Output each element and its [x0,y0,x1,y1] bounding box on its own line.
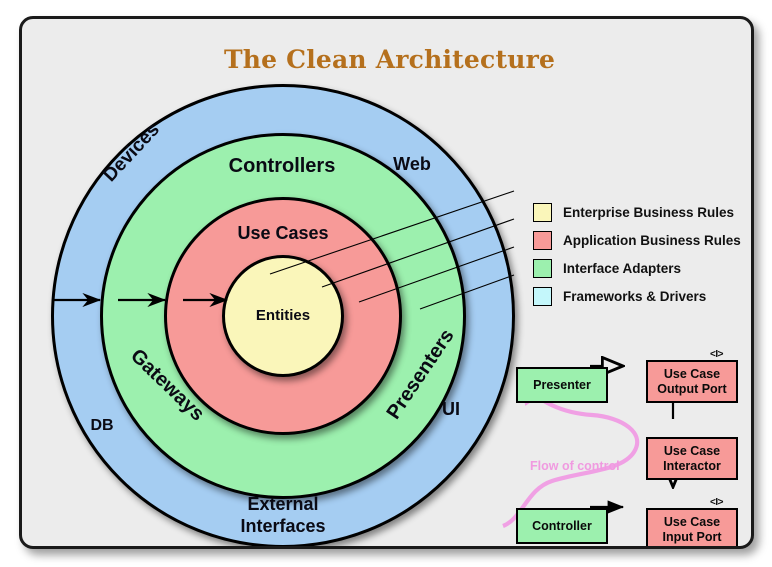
interface-marker-output-port: <I> [710,349,723,360]
legend-item: Interface Adapters [533,255,741,281]
page-title: The Clean Architecture [22,45,754,74]
flow-box-use-case-input-port: Use Case Input Port [646,508,738,549]
legend-swatch-application [533,231,552,250]
legend-label-enterprise: Enterprise Business Rules [563,205,734,220]
ring-label-use-cases: Use Cases [213,223,353,244]
legend-item: Frameworks & Drivers [533,283,741,309]
legend-swatch-frameworks [533,287,552,306]
flow-box-use-case-interactor: Use Case Interactor [646,437,738,480]
legend-item: Application Business Rules [533,227,741,253]
external-line-2: Interfaces [240,516,325,536]
interactor-line-1: Use Case [664,444,720,458]
input-port-line-2: Input Port [662,530,721,544]
interface-marker-input-port: <I> [710,497,723,508]
flow-box-controller: Controller [516,508,608,544]
output-port-line-1: Use Case [664,367,720,381]
ring-label-entities: Entities [227,307,339,324]
legend-swatch-enterprise [533,203,552,222]
ring-label-ui: UI [427,399,475,420]
legend-label-application: Application Business Rules [563,233,741,248]
ring-label-controllers: Controllers [202,155,362,178]
legend-item: Enterprise Business Rules [533,199,741,225]
legend-swatch-interface-adapters [533,259,552,278]
flow-box-use-case-output-port: Use Case Output Port [646,360,738,403]
ring-label-web: Web [377,154,447,175]
flow-box-controller-label: Controller [532,519,592,534]
output-port-line-2: Output Port [657,382,726,396]
ring-label-external-interfaces: External Interfaces [208,494,358,538]
legend-label-frameworks: Frameworks & Drivers [563,289,706,304]
flow-of-control-curve [503,385,637,526]
ring-label-db: DB [74,417,130,435]
flow-box-presenter: Presenter [516,367,608,403]
diagram-panel: The Clean Architecture Controllers Use C… [19,16,754,549]
legend: Enterprise Business Rules Application Bu… [533,199,741,311]
input-port-line-1: Use Case [664,515,720,529]
legend-label-interface-adapters: Interface Adapters [563,261,681,276]
flow-box-presenter-label: Presenter [533,378,591,393]
interactor-line-2: Interactor [663,459,721,473]
flow-of-control-label: Flow of control [530,459,620,473]
external-line-1: External [247,494,318,514]
diagram-canvas: The Clean Architecture Controllers Use C… [0,0,772,567]
